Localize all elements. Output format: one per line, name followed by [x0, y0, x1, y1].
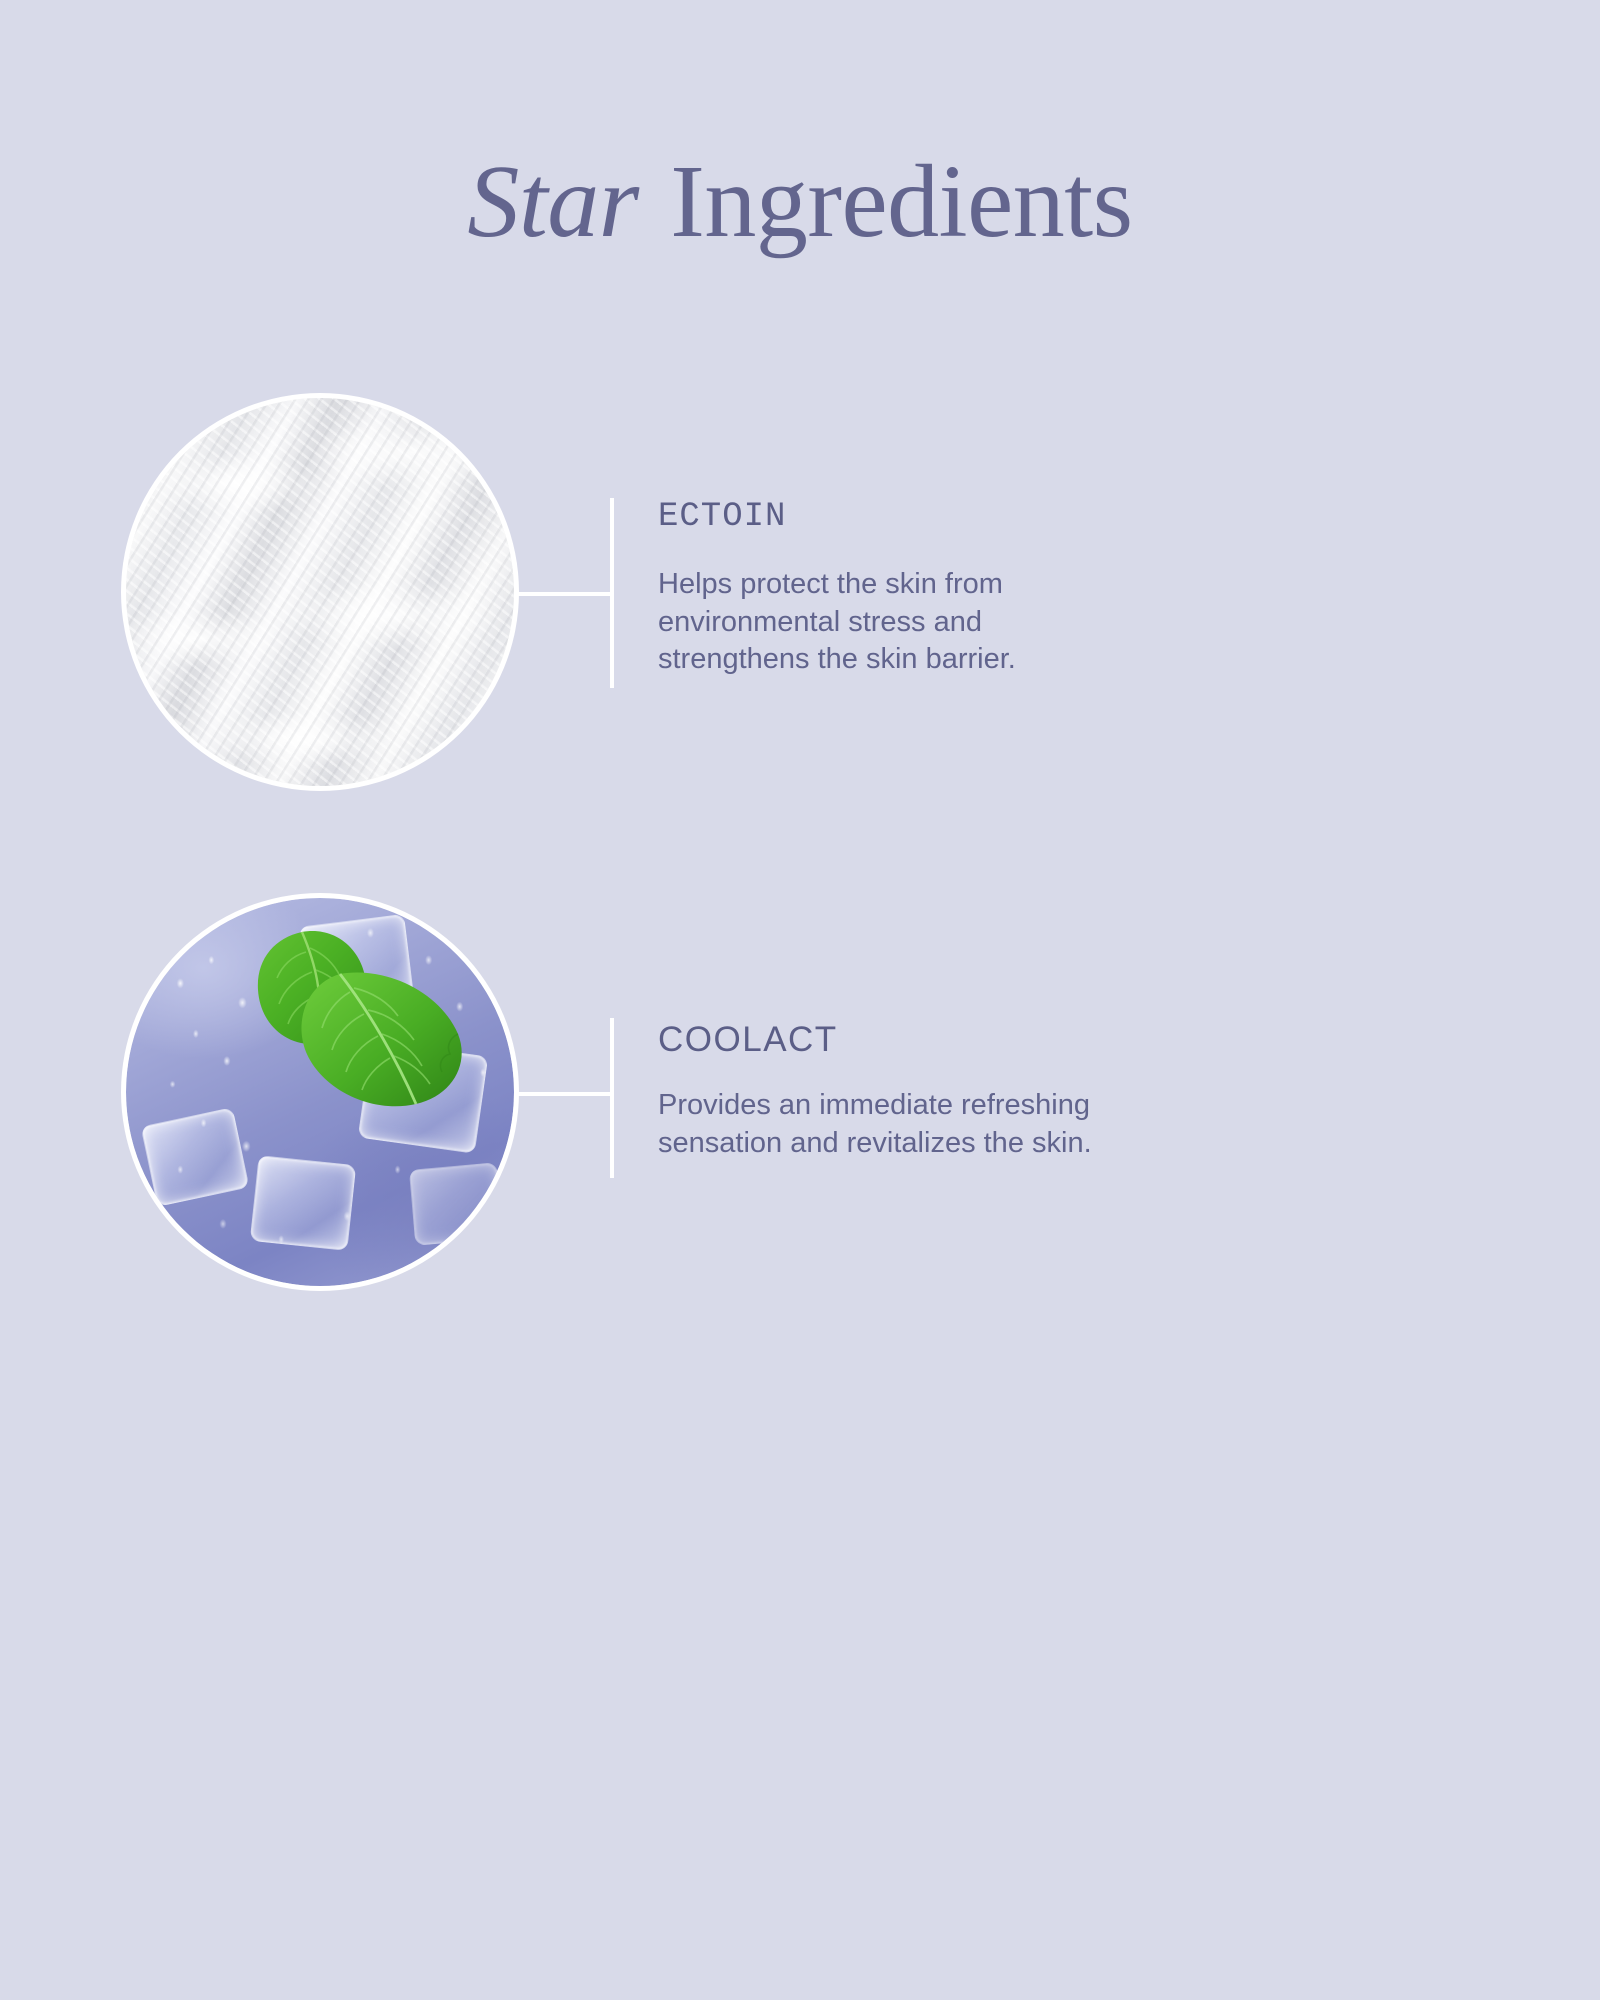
page-title-text: Star Ingredients	[467, 150, 1132, 254]
page-title-italic-word: Star	[467, 144, 644, 259]
ingredient-description-line: Provides an immediate refreshing	[658, 1087, 1258, 1125]
connector-bar-vertical-ectoin	[610, 498, 614, 688]
ingredient-description-line: environmental stress and	[658, 604, 1258, 642]
ingredient-description-line: strengthens the skin barrier.	[658, 641, 1258, 679]
ingredient-block-ectoin: ECTOIN Helps protect the skin from envir…	[0, 398, 1600, 898]
connector-line-horizontal-coolact	[514, 1092, 614, 1096]
ingredient-block-coolact: COOLACT Provides an immediate refreshing…	[0, 898, 1600, 1398]
water-droplets-overlay	[126, 898, 514, 1286]
ingredient-image-ectoin	[126, 398, 514, 786]
ingredient-description-ectoin: Helps protect the skin from environmenta…	[658, 566, 1258, 679]
ingredient-description-coolact: Provides an immediate refreshing sensati…	[658, 1087, 1258, 1162]
ingredient-image-coolact	[126, 898, 514, 1286]
ingredient-description-line: Helps protect the skin from	[658, 566, 1258, 604]
page-title: Star Ingredients	[0, 150, 1600, 254]
ingredient-text-coolact: COOLACT Provides an immediate refreshing…	[658, 1020, 1278, 1163]
connector-bar-vertical-coolact	[610, 1018, 614, 1178]
white-powder-texture-photo	[126, 398, 514, 786]
ice-cubes-with-mint-leaf-photo	[126, 898, 514, 1286]
connector-line-horizontal-ectoin	[514, 592, 614, 596]
star-ingredients-page: Star Ingredients ECTOIN Helps protect th…	[0, 0, 1600, 2000]
ingredient-name-ectoin: ECTOIN	[658, 498, 1278, 536]
ingredient-description-line: sensation and revitalizes the skin.	[658, 1125, 1258, 1163]
ingredient-name-coolact: COOLACT	[658, 1020, 1278, 1059]
page-title-regular-word: Ingredients	[645, 144, 1133, 259]
ingredient-text-ectoin: ECTOIN Helps protect the skin from envir…	[658, 498, 1278, 679]
